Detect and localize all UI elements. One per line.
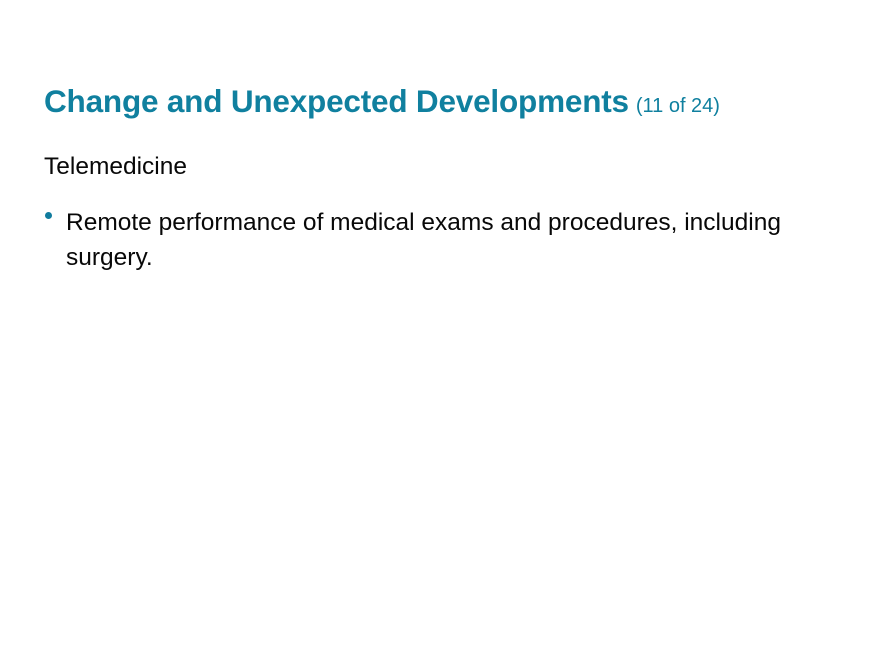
bullet-dot-icon: [45, 212, 52, 219]
slide-counter: (11 of 24): [636, 95, 720, 117]
list-item: Remote performance of medical exams and …: [44, 205, 834, 275]
list-item-label: Remote performance of medical exams and …: [66, 205, 806, 275]
slide-title-text: Change and Unexpected Developments: [44, 83, 629, 119]
slide-canvas: Change and Unexpected Developments(11 of…: [0, 0, 880, 660]
page-title: Change and Unexpected Developments(11 of…: [44, 84, 856, 119]
bullet-list: Remote performance of medical exams and …: [44, 205, 834, 275]
slide-subtitle: Telemedicine: [44, 152, 187, 181]
